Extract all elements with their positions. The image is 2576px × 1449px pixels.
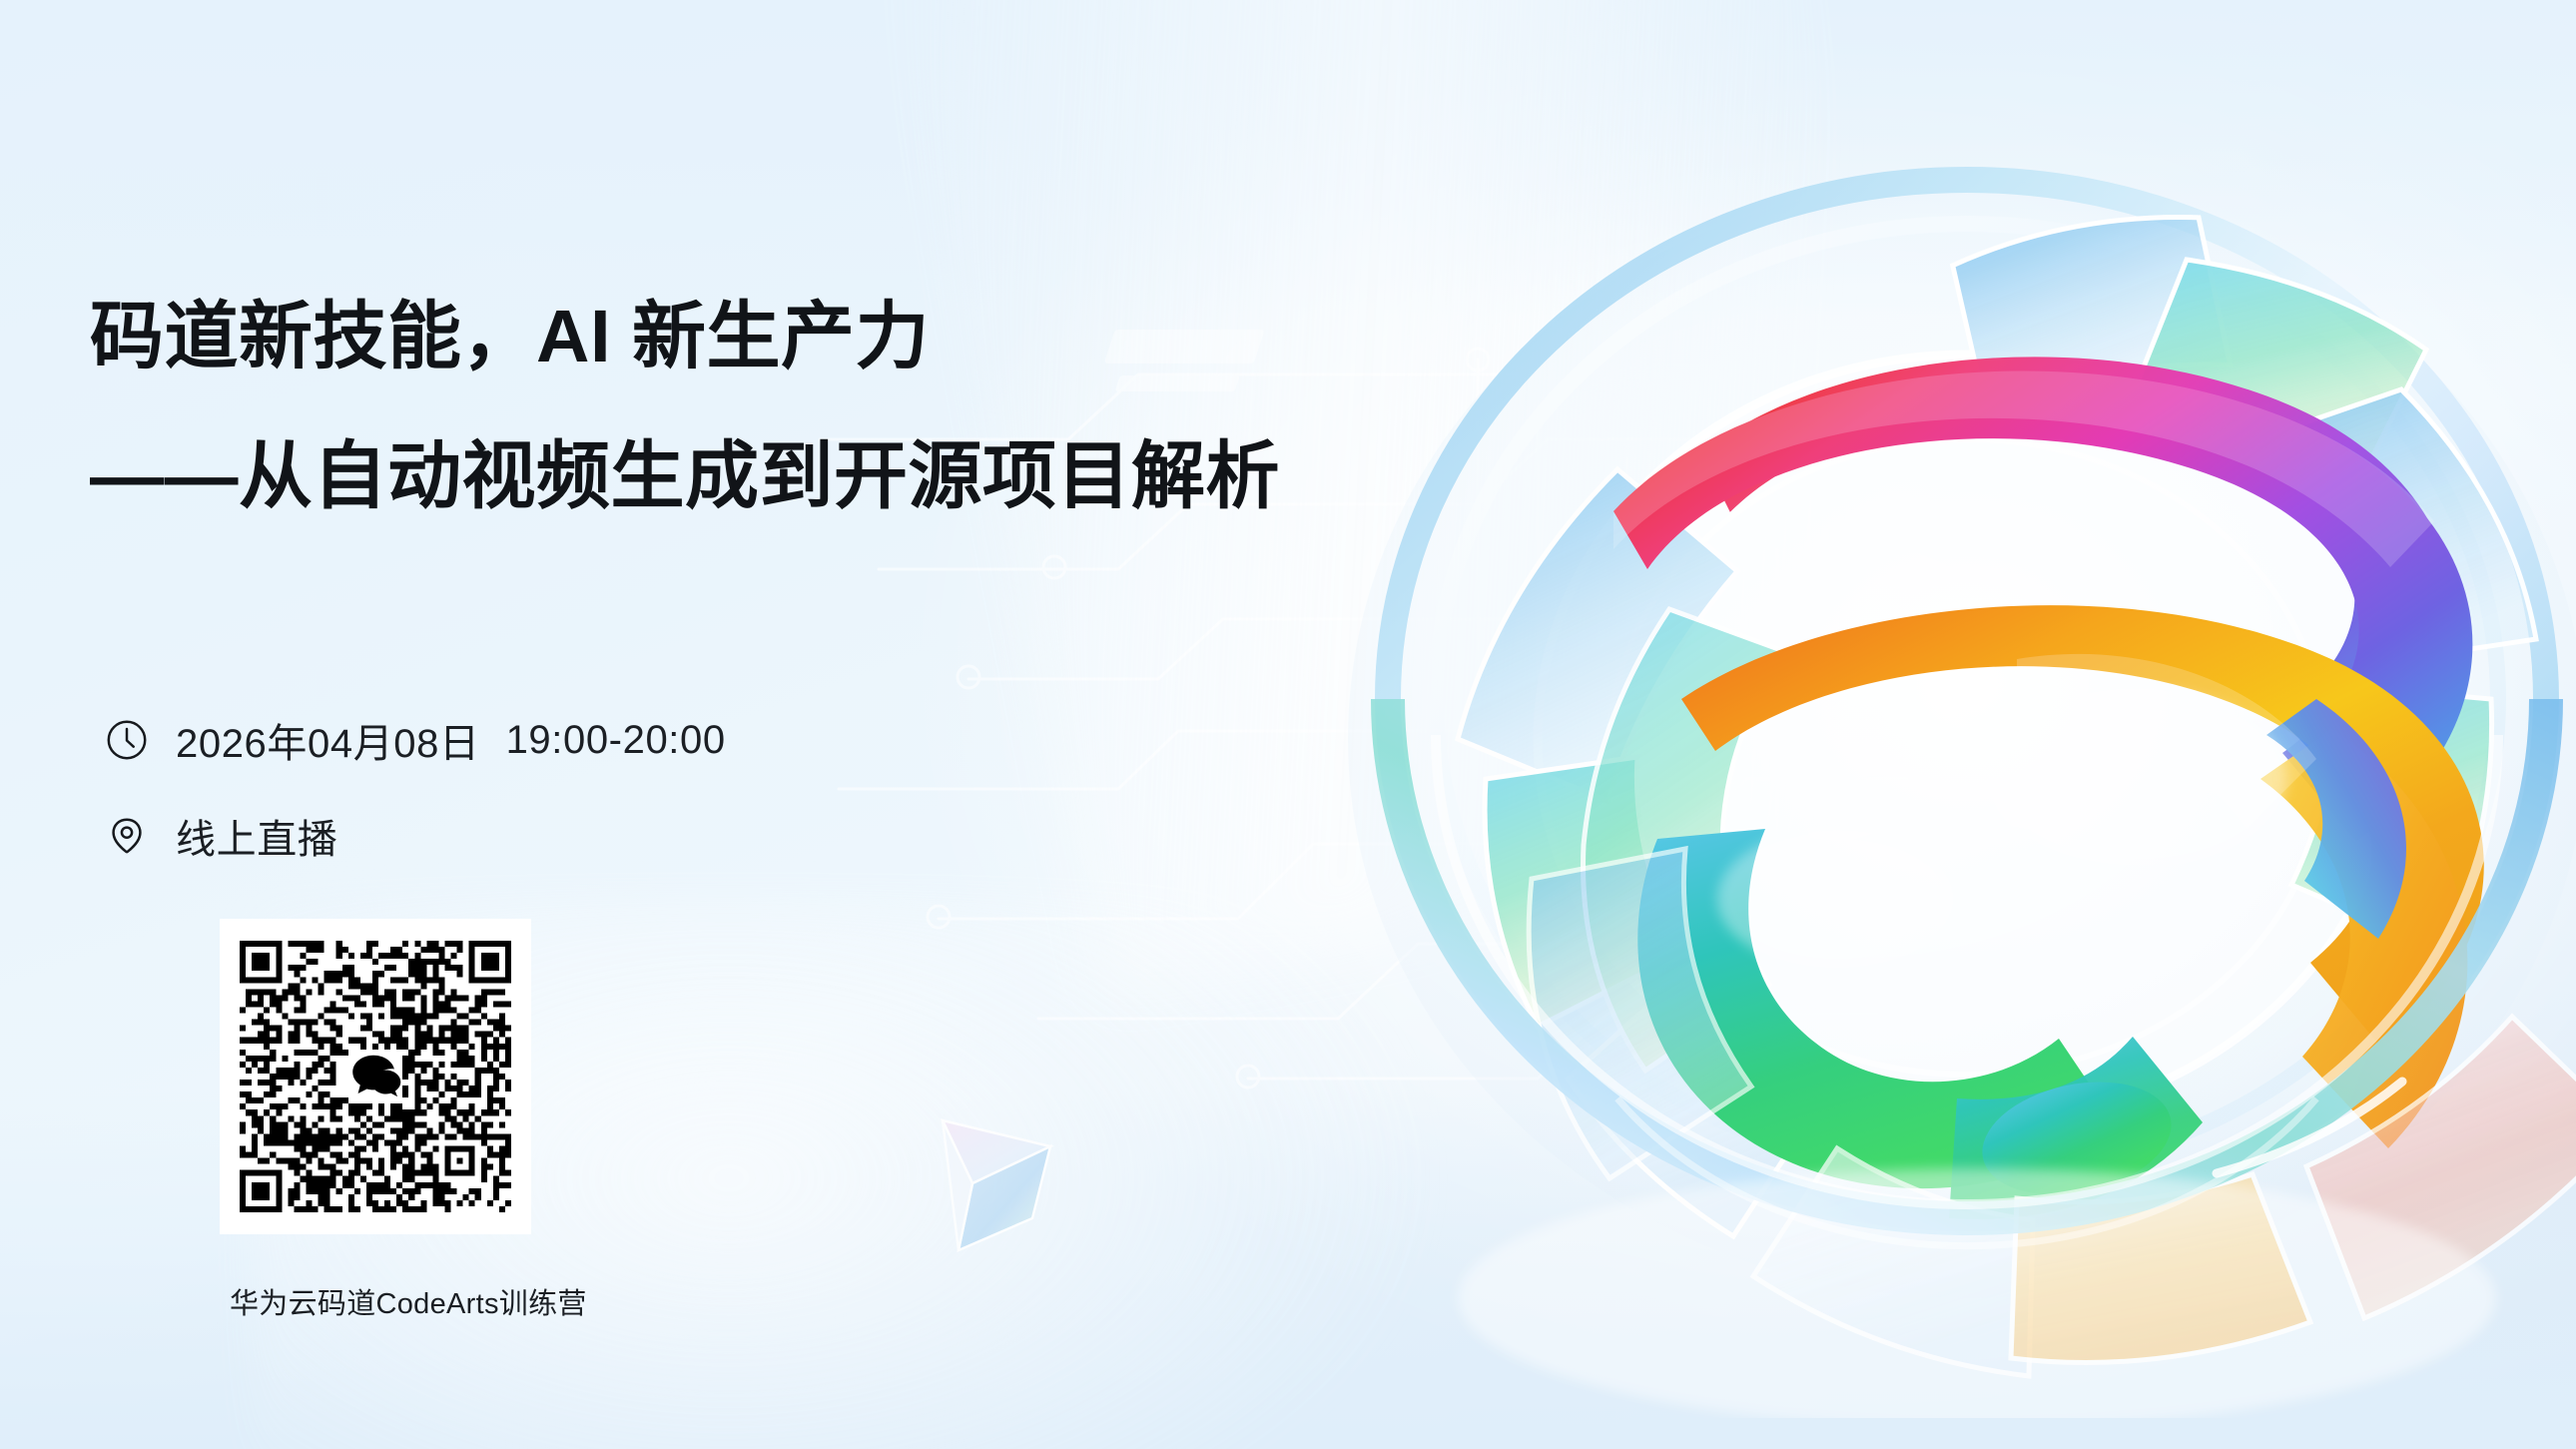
clock-icon: [104, 717, 150, 763]
event-poster: 码道新技能，AI 新生产力 ——从自动视频生成到开源项目解析 2026年04月0…: [0, 0, 2576, 1449]
page-title-line-2: ——从自动视频生成到开源项目解析: [90, 439, 1280, 513]
event-location: 线上直播: [176, 807, 337, 865]
poster-content: 码道新技能，AI 新生产力 ——从自动视频生成到开源项目解析 2026年04月0…: [90, 0, 1308, 1449]
event-location-row: 线上直播: [104, 807, 337, 865]
location-pin-icon: [104, 813, 150, 859]
qr-code-caption: 华为云码道CodeArts训练营: [230, 1280, 529, 1322]
event-date: 2026年04月08日: [176, 711, 480, 769]
qr-code-matrix: [240, 941, 511, 1212]
qr-code[interactable]: [220, 919, 531, 1234]
event-datetime-row: 2026年04月08日 19:00-20:00: [104, 711, 726, 769]
event-time: 19:00-20:00: [506, 718, 726, 763]
wechat-speech-bubble-icon: [344, 1046, 406, 1107]
page-title-line-1: 码道新技能，AI 新生产力: [90, 300, 930, 373]
glass-ribbon-helix-artwork: [1318, 140, 2576, 1418]
